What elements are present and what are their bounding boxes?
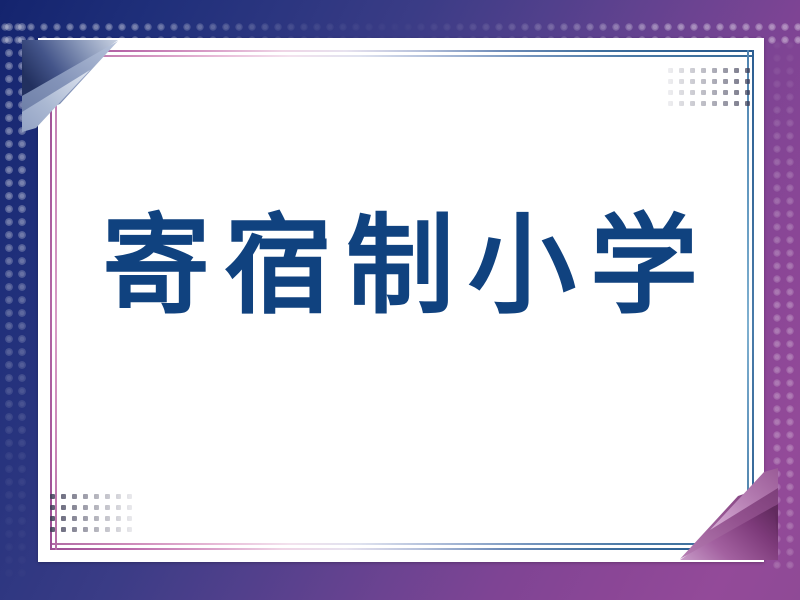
slide-canvas: 寄宿制小学 (0, 0, 800, 600)
slide-title: 寄宿制小学 (0, 205, 800, 329)
